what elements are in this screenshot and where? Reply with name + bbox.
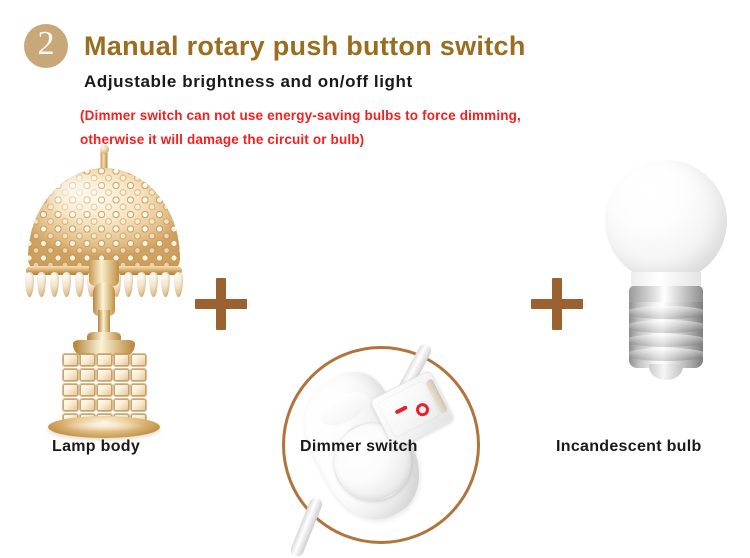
shade-highlight xyxy=(49,174,113,222)
product-lamp-body xyxy=(14,150,194,435)
screw-thread xyxy=(629,348,703,361)
step-number-text: 2 xyxy=(38,27,55,61)
crystal-drop xyxy=(149,272,158,297)
warning-note: (Dimmer switch can not use energy-saving… xyxy=(80,104,521,152)
crystal-drop xyxy=(75,272,84,297)
crystal-drop xyxy=(62,272,71,297)
infographic-canvas: 2 Manual rotary push button switch Adjus… xyxy=(0,0,750,491)
crystal-drop xyxy=(50,272,59,297)
crystal-drop xyxy=(25,272,34,297)
crystal-table-lamp-icon xyxy=(19,150,189,435)
power-cord-lower xyxy=(289,496,324,558)
screw-cap xyxy=(629,286,703,302)
warning-line-1: (Dimmer switch can not use energy-saving… xyxy=(80,104,521,128)
screw-thread xyxy=(629,306,703,319)
caption-dimmer-switch: Dimmer switch xyxy=(300,438,418,456)
crystal-drop xyxy=(37,272,46,297)
lamp-shade xyxy=(28,168,180,272)
step-header: 2 Manual rotary push button switch xyxy=(24,24,526,68)
page-title: Manual rotary push button switch xyxy=(84,31,526,62)
power-on-icon xyxy=(395,405,408,414)
bulb-globe xyxy=(605,160,727,282)
crystal-drop xyxy=(161,272,170,297)
screw-thread xyxy=(629,334,703,347)
crystal-row xyxy=(61,354,147,366)
warning-line-2: otherwise it will damage the circuit or … xyxy=(80,128,521,152)
caption-lamp-body: Lamp body xyxy=(52,438,140,456)
screw-thread xyxy=(629,320,703,333)
product-incandescent-bulb xyxy=(596,150,736,395)
bulb-contact-tip xyxy=(649,364,683,380)
crystal-row xyxy=(61,384,147,396)
globe-bulb-e27-icon xyxy=(596,150,736,395)
crystal-drop xyxy=(124,272,133,297)
bulb-screw-base xyxy=(629,286,703,368)
power-off-icon xyxy=(414,401,431,418)
lamp-foot xyxy=(48,416,160,438)
crystal-row xyxy=(61,399,147,411)
step-number-badge: 2 xyxy=(24,24,68,68)
crystal-row xyxy=(61,369,147,381)
crystal-drop xyxy=(174,272,183,297)
crystal-drop xyxy=(137,272,146,297)
plus-sign xyxy=(192,275,250,333)
caption-incandescent-bulb: Incandescent bulb xyxy=(556,438,702,456)
subtitle-text: Adjustable brightness and on/off light xyxy=(84,72,413,92)
product-row xyxy=(0,150,750,440)
plus-sign xyxy=(528,275,586,333)
